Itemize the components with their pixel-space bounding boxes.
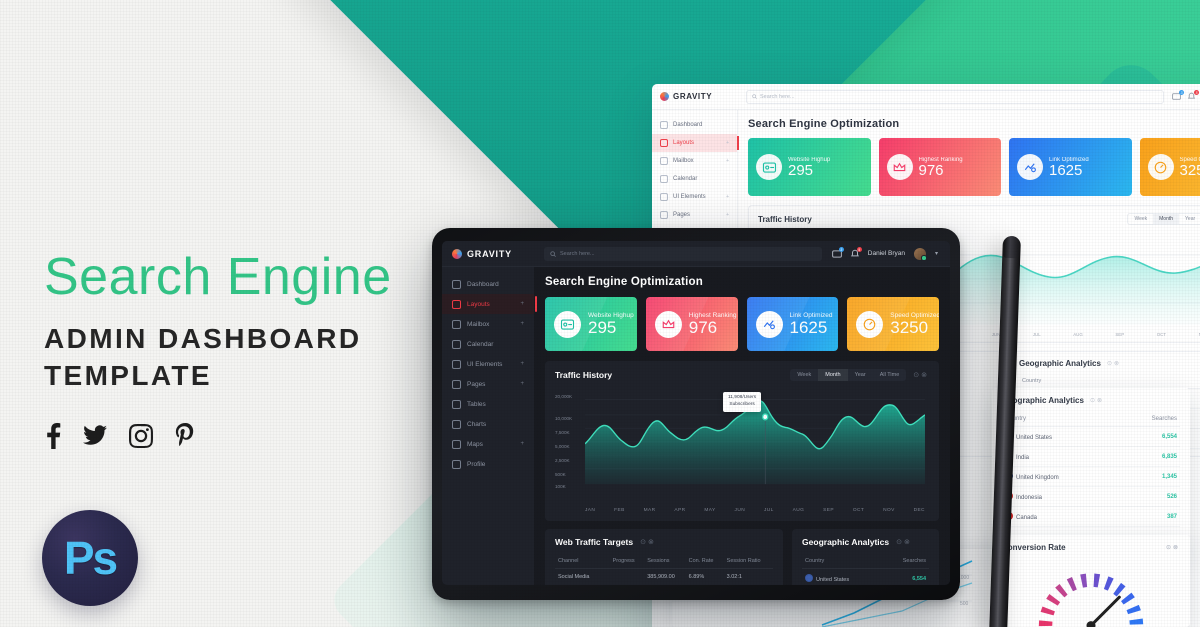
traffic-xaxis: JANFEBMARAPRMAYJUNJULAUGSEPOCTNOVDEC (555, 508, 929, 513)
photoshop-label: Ps (64, 535, 116, 581)
gauge-segment (1041, 606, 1055, 615)
range-tab-month[interactable]: Month (1153, 214, 1179, 224)
sidebar-item-pages[interactable]: Pages+ (442, 374, 534, 394)
range-tab-year[interactable]: Year (1179, 214, 1200, 224)
cell-country: United States (802, 569, 882, 586)
sidebar-item-mailbox[interactable]: Mailbox+ (442, 314, 534, 334)
photoshop-badge: Ps (42, 510, 138, 606)
pages-icon (660, 211, 668, 219)
page-title-light: Search Engine Optimization (748, 118, 1200, 130)
table-row[interactable]: India6,835 (1002, 447, 1180, 467)
sidebar-item-label: Layouts (467, 301, 490, 308)
stat-card-value: 3250 (890, 319, 939, 336)
dark-main: Search Engine Optimization Website Highu… (534, 267, 950, 585)
cell-searches: 387 (1119, 507, 1180, 527)
stat-card-website-highup[interactable]: Website Highup295 (545, 297, 637, 351)
light-stat-cards: Website Highup295Highest Ranking976Link … (748, 138, 1200, 196)
cell-country: United States (1002, 427, 1119, 447)
gauge-segment (1046, 594, 1060, 606)
gauge-segment (1129, 619, 1143, 625)
traffic-title-light: Traffic History (758, 215, 812, 224)
gauge-segment (1067, 577, 1077, 591)
search-field-light[interactable]: Search here... (738, 90, 1172, 104)
stat-card-label: Link Optimized (1049, 157, 1089, 163)
poster-copy: Search Engine ADMIN DASHBOARD TEMPLATE (44, 250, 392, 449)
chart-tooltip: 11,908/Users Subscribers (723, 392, 761, 412)
ranking-crown-icon (887, 154, 913, 180)
stat-card-highest-ranking[interactable]: Highest Ranking976 (879, 138, 1002, 196)
cell-sessions: 385,909.00 (644, 569, 685, 586)
column-header: Searches (1119, 412, 1180, 427)
table-row[interactable]: Social Media385,909.006.89%3.02:1 (555, 569, 773, 586)
conversion-actions-icon[interactable]: ⊙⊗ (1166, 544, 1180, 551)
stat-card-value: 1625 (1049, 163, 1089, 178)
brand-name: GRAVITY (673, 92, 712, 101)
cell-country: Canada (1002, 507, 1119, 527)
column-header: Progress (610, 554, 645, 569)
web-traffic-table: ChannelProgressSessionsCon. RateSession … (555, 554, 773, 585)
x-tick-label: JUL (1033, 332, 1041, 337)
geo-table-dark: CountrySearches United States6,554India6… (802, 554, 929, 585)
gauge-segment (1121, 593, 1135, 605)
headline-line-1: ADMIN DASHBOARD (44, 321, 392, 358)
link-chart-icon (756, 311, 783, 338)
expand-icon[interactable]: + (520, 361, 524, 367)
stat-card-link-optimized[interactable]: Link Optimized1625 (1009, 138, 1132, 196)
alerts-badge-dark: 5 (857, 247, 862, 252)
sidebar-item-label: UI Elements (673, 194, 706, 200)
x-tick-label: JAN (585, 508, 595, 513)
sidebar-item-label: Tables (467, 401, 486, 408)
range-tab-all-time[interactable]: All Time (873, 369, 907, 381)
messages-icon-dark[interactable]: 3 (832, 249, 841, 258)
expand-icon[interactable]: + (520, 321, 524, 327)
sidebar-item-ui-elements[interactable]: UI Elements+ (652, 188, 737, 206)
traffic-chart-area: 20,000K10,000K7,500K5,000K2,500K500K100K (555, 388, 929, 506)
column-header: Country (802, 554, 882, 569)
browser-icon (756, 154, 782, 180)
sidebar-item-label: Dashboard (673, 122, 702, 128)
stat-card-value: 295 (588, 319, 634, 336)
tablet-screen: GRAVITY Search here... 3 5 (442, 241, 950, 585)
poster-canvas: Search Engine ADMIN DASHBOARD TEMPLATE P… (0, 0, 1200, 627)
geo-title-dark: Geographic Analytics (802, 537, 889, 547)
brand-mark-icon-dark (452, 249, 462, 259)
x-tick-label: SEP (1115, 332, 1124, 337)
stat-card-speed-optimized[interactable]: Speed Optimized3250 (847, 297, 939, 351)
expand-icon[interactable]: + (726, 212, 729, 218)
sidebar-item-label: Pages (673, 212, 690, 218)
page-title-dark: Search Engine Optimization (545, 276, 939, 288)
sidebar-item-label: Charts (467, 421, 486, 428)
sidebar-item-charts[interactable]: Charts (442, 414, 534, 434)
sidebar-item-layouts[interactable]: Layouts+ (652, 134, 737, 152)
web-traffic-targets-panel: Web Traffic Targets ⊙⊗ ChannelProgressSe… (545, 529, 783, 585)
sidebar-item-label: Mailbox (673, 158, 694, 164)
stat-card-label: Highest Ranking (689, 312, 737, 319)
dashboard-icon (660, 121, 668, 129)
stat-card-value: 3250 (1180, 163, 1200, 178)
geo-actions-icon[interactable]: ⊙⊗ (1107, 360, 1121, 367)
dark-sidebar: DashboardLayouts+Mailbox+CalendarUI Elem… (442, 267, 534, 585)
stat-card-label: Link Optimized (790, 312, 833, 319)
conversion-title: Conversion Rate (1002, 543, 1066, 552)
x-tick-label: OCT (1157, 332, 1166, 337)
column-header: Session Ratio (724, 554, 773, 569)
stat-card-link-optimized[interactable]: Link Optimized1625 (747, 297, 839, 351)
expand-icon[interactable]: + (726, 158, 729, 164)
cell-searches: 526 (1119, 487, 1180, 507)
social-links (44, 423, 392, 449)
sidebar-item-label: Pages (467, 381, 485, 388)
stat-card-label: Highest Ranking (919, 157, 963, 163)
cell-searches: 6,554 (1119, 427, 1180, 447)
brand-logo-light[interactable]: GRAVITY (652, 92, 738, 101)
geo-card-table: CountrySearches United States6,554India6… (1002, 412, 1180, 527)
twitter-icon[interactable] (83, 425, 107, 447)
dark-user-area[interactable]: 3 5 Daniel Bryan ▾ (832, 248, 950, 260)
gauge-segment (1113, 583, 1125, 597)
profile-icon (452, 460, 461, 469)
x-tick-label: MAY (704, 508, 715, 513)
x-tick-label: APR (674, 508, 685, 513)
ui-elements-icon (660, 193, 668, 201)
conversion-gauge (1006, 554, 1176, 627)
sidebar-item-label: Layouts (673, 140, 694, 146)
cell-country: Indonesia (1002, 487, 1119, 507)
tooltip-line-2: Subscribers (728, 402, 756, 409)
gauge-segment (1094, 573, 1101, 587)
sidebar-item-profile[interactable]: Profile (442, 454, 534, 474)
range-tabs[interactable]: WeekMonthYearAll Time (790, 369, 906, 381)
range-tab-week[interactable]: Week (1128, 214, 1153, 224)
stat-card-value: 295 (788, 163, 830, 178)
stat-card-label: Speed Optimized (1180, 157, 1200, 163)
charts-icon (452, 420, 461, 429)
y-tick-label: 500K (555, 472, 566, 477)
calendar-icon (452, 340, 461, 349)
web-traffic-title: Web Traffic Targets (555, 537, 633, 547)
brand-name-dark: GRAVITY (467, 249, 512, 259)
table-row[interactable]: United States6,554 (802, 569, 929, 586)
messages-badge-dark: 3 (839, 247, 844, 252)
sidebar-item-layouts[interactable]: Layouts+ (442, 294, 534, 314)
x-tick-label: NOV (883, 508, 895, 513)
tooltip-line-1: 11,908/Users (728, 395, 756, 402)
x-tick-label: SEP (823, 508, 834, 513)
stat-card-website-highup[interactable]: Website Highup295 (748, 138, 871, 196)
gauge-segment (1055, 584, 1067, 597)
cell-searches: 6,835 (1119, 447, 1180, 467)
y-tick-label: 5,000K (555, 444, 570, 449)
column-header: Searches (882, 554, 929, 569)
sidebar-item-label: Dashboard (467, 281, 499, 288)
dark-topbar: GRAVITY Search here... 3 5 (442, 241, 950, 267)
expand-icon[interactable]: + (520, 381, 524, 387)
geographic-analytics-card: Geographic Analytics ⊙⊗ CountrySearches … (992, 388, 1190, 548)
x-tick-label: FEB (614, 508, 625, 513)
cell-channel: Social Media (555, 569, 610, 586)
user-name-dark: Daniel Bryan (868, 250, 905, 257)
messages-icon[interactable]: 3 (1172, 92, 1181, 101)
chart-hover-point (763, 414, 768, 420)
sidebar-item-label: Calendar (673, 176, 697, 182)
headline-subtitle: ADMIN DASHBOARD TEMPLATE (44, 321, 392, 395)
sidebar-item-label: UI Elements (467, 361, 502, 368)
svg-text:500: 500 (960, 601, 969, 607)
avatar-dark[interactable] (914, 248, 926, 260)
traffic-history-panel: Traffic History WeekMonthYearAll Time ⊙⊗… (545, 361, 939, 521)
flag-icon (805, 574, 813, 582)
y-tick-label: 10,000K (555, 416, 572, 421)
cell-searches: 6,554 (882, 569, 929, 586)
brand-logo-dark[interactable]: GRAVITY (442, 249, 534, 259)
search-icon (752, 94, 757, 99)
table-row[interactable]: Canada387 (1002, 507, 1180, 527)
search-icon-dark (550, 251, 556, 257)
gauge-needle (1091, 597, 1119, 625)
stat-card-value: 1625 (790, 319, 833, 336)
x-tick-label: AUG (793, 508, 805, 513)
traffic-actions-icon[interactable]: ⊙⊗ (913, 371, 929, 379)
layouts-icon (452, 300, 461, 309)
facebook-icon[interactable] (44, 423, 61, 449)
alerts-icon[interactable]: 5 (1187, 92, 1196, 101)
speedometer-icon (1148, 154, 1174, 180)
sidebar-item-label: Maps (467, 441, 483, 448)
table-row[interactable]: Indonesia526 (1002, 487, 1180, 507)
conversion-rate-card: Conversion Rate ⊙⊗ (992, 535, 1190, 627)
x-tick-label: DEC (914, 508, 925, 513)
messages-badge: 3 (1179, 90, 1184, 95)
column-header: Sessions (644, 554, 685, 569)
y-tick-label: 100K (555, 484, 566, 489)
cell-searches: 1,345 (1119, 467, 1180, 487)
sidebar-item-label: Calendar (467, 341, 493, 348)
instagram-icon[interactable] (129, 424, 153, 448)
x-tick-label: OCT (853, 508, 864, 513)
maps-icon (452, 440, 461, 449)
expand-icon[interactable]: + (520, 301, 524, 307)
search-placeholder-dark: Search here... (560, 251, 595, 257)
x-tick-label: JUN (735, 508, 746, 513)
search-field-dark[interactable]: Search here... (534, 247, 832, 261)
chevron-down-icon-dark[interactable]: ▾ (935, 250, 938, 257)
column-header: Country (1019, 374, 1172, 389)
sidebar-item-dashboard[interactable]: Dashboard (442, 274, 534, 294)
gauge-segment (1127, 605, 1141, 614)
pages-icon (452, 380, 461, 389)
gauge-segment (1104, 576, 1114, 590)
stat-card-value: 976 (919, 163, 963, 178)
layouts-icon (660, 139, 668, 147)
geo-title-light: Geographic Analytics (1019, 359, 1101, 368)
column-header: Country (1002, 412, 1119, 427)
pinterest-icon[interactable] (175, 423, 196, 449)
speedometer-icon (856, 311, 883, 338)
cell-con-rate: 6.89% (686, 569, 724, 586)
y-tick-label: 2,500K (555, 458, 570, 463)
calendar-icon (660, 175, 668, 183)
range-tabs-light[interactable]: WeekMonthYearAll Time (1127, 213, 1200, 225)
x-tick-label: JUL (764, 508, 774, 513)
light-topbar: GRAVITY Search here... 3 5 Daniel Bryan (652, 84, 1200, 110)
column-header: Channel (555, 554, 610, 569)
link-chart-icon (1017, 154, 1043, 180)
geo-actions-icon-dark[interactable]: ⊙⊗ (896, 538, 912, 546)
table-row[interactable]: United States6,554 (1002, 427, 1180, 447)
x-tick-label: MAR (644, 508, 656, 513)
brand-mark-icon (660, 92, 669, 101)
stat-card-value: 976 (689, 319, 737, 336)
search-placeholder-light: Search here... (760, 94, 795, 100)
sidebar-item-calendar[interactable]: Calendar (442, 334, 534, 354)
mailbox-icon (452, 320, 461, 329)
alerts-badge: 5 (1194, 90, 1199, 95)
sidebar-item-calendar[interactable]: Calendar (652, 170, 737, 188)
expand-icon[interactable]: + (520, 441, 524, 447)
alerts-icon-dark[interactable]: 5 (850, 249, 859, 258)
headline-line-2: TEMPLATE (44, 358, 392, 395)
cell-progress (610, 569, 645, 586)
cell-session-ratio: 3.02:1 (724, 569, 773, 586)
dashboard-icon (452, 280, 461, 289)
browser-icon (554, 311, 581, 338)
column-header: Searches (1172, 374, 1200, 389)
range-tab-week[interactable]: Week (790, 369, 818, 381)
expand-icon[interactable]: + (726, 140, 729, 146)
ranking-crown-icon (655, 311, 682, 338)
traffic-title: Traffic History (555, 370, 612, 380)
sidebar-item-ui-elements[interactable]: UI Elements+ (442, 354, 534, 374)
sidebar-item-mailbox[interactable]: Mailbox+ (652, 152, 737, 170)
y-tick-label: 20,000K (555, 394, 572, 399)
ui-elements-icon (452, 360, 461, 369)
mailbox-icon (660, 157, 668, 165)
stat-card-highest-ranking[interactable]: Highest Ranking976 (646, 297, 738, 351)
sidebar-item-maps[interactable]: Maps+ (442, 434, 534, 454)
x-tick-label: AUG (1073, 332, 1083, 337)
geo-card-actions-icon[interactable]: ⊙⊗ (1090, 397, 1104, 404)
headline-script: Search Engine (44, 250, 392, 305)
stat-card-speed-optimized[interactable]: Speed Optimized3250 (1140, 138, 1200, 196)
table-row[interactable]: United Kingdom1,345 (1002, 467, 1180, 487)
stat-card-label: Website Highup (588, 312, 634, 319)
sidebar-item-dashboard[interactable]: Dashboard (652, 116, 737, 134)
expand-icon[interactable]: + (726, 194, 729, 200)
cell-country: United Kingdom (1002, 467, 1119, 487)
geo-analytics-panel-dark: Geographic Analytics ⊙⊗ CountrySearches … (792, 529, 939, 585)
cell-country: India (1002, 447, 1119, 467)
range-tab-month[interactable]: Month (818, 369, 847, 381)
sidebar-item-pages[interactable]: Pages+ (652, 206, 737, 224)
tables-icon (452, 400, 461, 409)
light-user-area[interactable]: 3 5 Daniel Bryan ▾ (1172, 91, 1200, 102)
column-header: Con. Rate (686, 554, 724, 569)
sidebar-item-tables[interactable]: Tables (442, 394, 534, 414)
range-tab-year[interactable]: Year (848, 369, 873, 381)
web-traffic-actions-icon[interactable]: ⊙⊗ (640, 538, 656, 546)
gauge-segment (1080, 574, 1087, 588)
y-tick-label: 7,500K (555, 430, 570, 435)
sidebar-item-label: Profile (467, 461, 485, 468)
stat-cards: Website Highup295Highest Ranking976Link … (545, 297, 939, 351)
sidebar-item-label: Mailbox (467, 321, 489, 328)
stat-card-label: Website Highup (788, 157, 830, 163)
stat-card-label: Speed Optimized (890, 312, 939, 319)
tablet-device: GRAVITY Search here... 3 5 (432, 228, 960, 600)
gauge-segment (1039, 620, 1053, 626)
